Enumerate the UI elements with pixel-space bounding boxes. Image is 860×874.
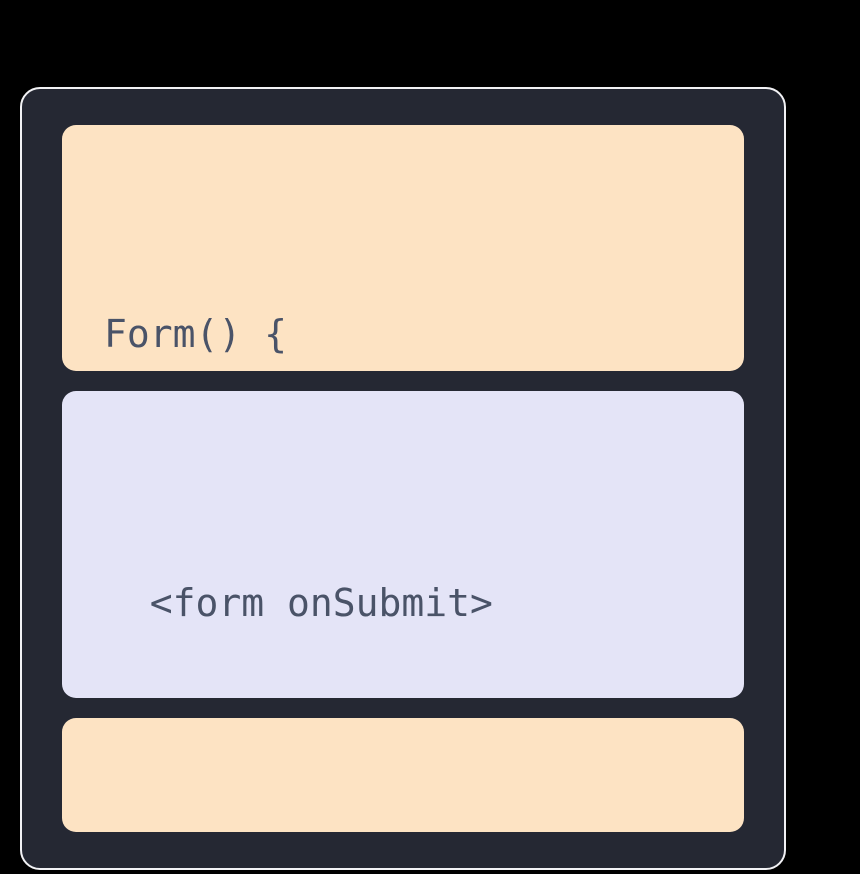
code-line: Form() { — [62, 297, 744, 371]
code-line: <form onSubmit> — [62, 566, 744, 640]
code-card: Form() { onClick() {...} onSubmit() {...… — [20, 87, 786, 870]
page-root: Form() { onClick() {...} onSubmit() {...… — [0, 0, 860, 874]
code-block-component-signature: Form() { onClick() {...} onSubmit() {...… — [62, 125, 744, 371]
code-block-returned-markup: <form onSubmit> <input onClick /> <input… — [62, 391, 744, 697]
code-block-closing-brace: } — [62, 718, 744, 832]
